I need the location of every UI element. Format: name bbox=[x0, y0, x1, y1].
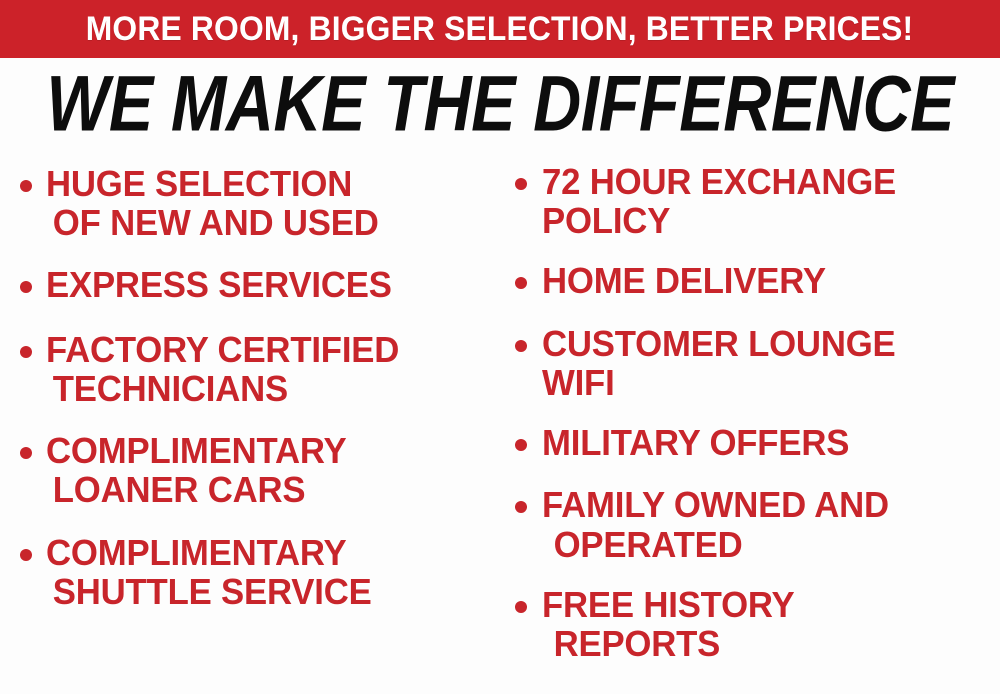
list-item-line: OF NEW AND USED bbox=[46, 203, 379, 242]
list-item-line: SHUTTLE SERVICE bbox=[46, 572, 372, 611]
list-item: MILITARY OFFERS bbox=[515, 423, 1000, 462]
list-item-line: COMPLIMENTARY bbox=[46, 533, 372, 572]
list-item-text: EXPRESS SERVICES bbox=[46, 265, 392, 304]
bullet-dot-icon bbox=[515, 277, 527, 289]
list-item-line: COMPLIMENTARY bbox=[46, 431, 346, 470]
list-item: 72 HOUR EXCHANGE POLICY bbox=[515, 162, 1000, 240]
list-item-line: HOME DELIVERY bbox=[542, 261, 826, 300]
headline-container: WE MAKE THE DIFFERENCE bbox=[0, 68, 1000, 140]
list-item-line: FACTORY CERTIFIED bbox=[46, 330, 399, 369]
list-item-line: FAMILY OWNED AND bbox=[542, 485, 889, 524]
list-item-line: WIFI bbox=[542, 363, 896, 402]
list-item: FREE HISTORY REPORTS bbox=[515, 585, 1000, 663]
bullet-dot-icon bbox=[515, 501, 527, 513]
list-item-line: EXPRESS SERVICES bbox=[46, 265, 392, 304]
list-item: COMPLIMENTARY SHUTTLE SERVICE bbox=[20, 533, 505, 611]
list-item-text: COMPLIMENTARY SHUTTLE SERVICE bbox=[46, 533, 372, 611]
list-item-text: FAMILY OWNED AND OPERATED bbox=[542, 485, 889, 563]
top-banner: MORE ROOM, BIGGER SELECTION, BETTER PRIC… bbox=[0, 0, 1000, 58]
promo-poster: MORE ROOM, BIGGER SELECTION, BETTER PRIC… bbox=[0, 0, 1000, 694]
list-item-line: HUGE SELECTION bbox=[46, 164, 379, 203]
list-item-text: FACTORY CERTIFIED TECHNICIANS bbox=[46, 330, 399, 408]
list-item: FAMILY OWNED AND OPERATED bbox=[515, 485, 1000, 563]
bullet-dot-icon bbox=[515, 178, 527, 190]
list-item-line: MILITARY OFFERS bbox=[542, 423, 849, 462]
list-item-text: 72 HOUR EXCHANGE POLICY bbox=[542, 162, 896, 240]
bullet-dot-icon bbox=[20, 447, 32, 459]
list-item-line: POLICY bbox=[542, 201, 896, 240]
bullet-dot-icon bbox=[20, 549, 32, 561]
bullet-dot-icon bbox=[20, 281, 32, 293]
banner-headline-text: MORE ROOM, BIGGER SELECTION, BETTER PRIC… bbox=[86, 12, 914, 46]
list-item-line: REPORTS bbox=[542, 624, 794, 663]
bullet-dot-icon bbox=[20, 346, 32, 358]
list-item-text: HUGE SELECTION OF NEW AND USED bbox=[46, 164, 379, 242]
bullet-dot-icon bbox=[20, 180, 32, 192]
list-item-line: LOANER CARS bbox=[46, 470, 346, 509]
list-item-line: OPERATED bbox=[542, 525, 889, 564]
benefits-column-left: HUGE SELECTION OF NEW AND USED EXPRESS S… bbox=[0, 158, 505, 694]
list-item: COMPLIMENTARY LOANER CARS bbox=[20, 431, 505, 509]
list-item: CUSTOMER LOUNGE WIFI bbox=[515, 324, 1000, 402]
list-item: EXPRESS SERVICES bbox=[20, 265, 505, 304]
list-item-text: MILITARY OFFERS bbox=[542, 423, 849, 462]
benefits-column-right: 72 HOUR EXCHANGE POLICY HOME DELIVERY CU… bbox=[505, 158, 1000, 694]
list-item-line: 72 HOUR EXCHANGE bbox=[542, 162, 896, 201]
bullet-dot-icon bbox=[515, 439, 527, 451]
list-item: FACTORY CERTIFIED TECHNICIANS bbox=[20, 330, 505, 408]
benefits-columns: HUGE SELECTION OF NEW AND USED EXPRESS S… bbox=[0, 158, 1000, 694]
bullet-dot-icon bbox=[515, 601, 527, 613]
list-item-text: COMPLIMENTARY LOANER CARS bbox=[46, 431, 346, 509]
list-item: HUGE SELECTION OF NEW AND USED bbox=[20, 164, 505, 242]
list-item-text: CUSTOMER LOUNGE WIFI bbox=[542, 324, 896, 402]
bullet-dot-icon bbox=[515, 340, 527, 352]
list-item-line: TECHNICIANS bbox=[46, 369, 399, 408]
list-item: HOME DELIVERY bbox=[515, 261, 1000, 300]
list-item-text: FREE HISTORY REPORTS bbox=[542, 585, 794, 663]
list-item-line: CUSTOMER LOUNGE bbox=[542, 324, 896, 363]
list-item-line: FREE HISTORY bbox=[542, 585, 794, 624]
list-item-text: HOME DELIVERY bbox=[542, 261, 826, 300]
page-title: WE MAKE THE DIFFERENCE bbox=[46, 65, 954, 143]
